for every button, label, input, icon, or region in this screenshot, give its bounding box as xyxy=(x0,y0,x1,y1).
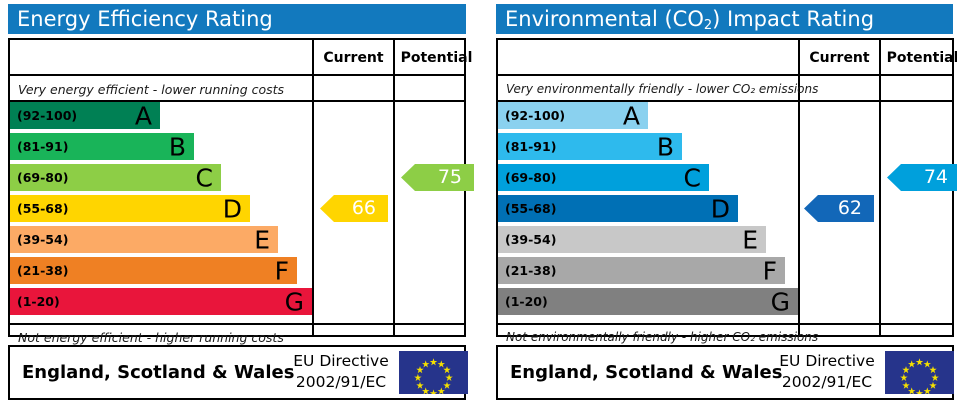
eu-flag-icon xyxy=(399,351,468,394)
band-range: (69-80) xyxy=(505,164,556,191)
energy-footer-region: England, Scotland & Wales xyxy=(22,347,294,398)
band-range: (81-91) xyxy=(505,133,556,160)
band-range: (39-54) xyxy=(505,226,556,253)
band-row: (1-20) G xyxy=(10,288,312,315)
co2-chart-title-subscript: 2 xyxy=(704,18,712,33)
energy-potential-header: Potential xyxy=(395,40,478,76)
co2-impact-chart: Environmental (CO2) Impact Rating Curren… xyxy=(488,0,957,404)
band-row: (1-20) G xyxy=(498,288,798,315)
energy-current-arrow: 66 xyxy=(320,195,388,222)
co2-footer-region: England, Scotland & Wales xyxy=(510,347,782,398)
band-row: (55-68) D xyxy=(498,195,738,222)
band-row: (81-91) B xyxy=(10,133,194,160)
co2-caption-top: Very environmentally friendly - lower CO… xyxy=(506,82,818,96)
band-range: (92-100) xyxy=(17,102,77,129)
band-range: (1-20) xyxy=(17,288,60,315)
band-letter: E xyxy=(254,227,270,252)
band-row: (92-100) A xyxy=(498,102,648,129)
band-range: (1-20) xyxy=(505,288,548,315)
eu-flag-icon xyxy=(885,351,954,394)
energy-footer: England, Scotland & Wales EU Directive 2… xyxy=(8,345,466,400)
co2-chart-title-suffix: ) Impact Rating xyxy=(712,7,874,31)
co2-column-divider-2 xyxy=(879,40,881,335)
co2-footer-directive: EU Directive 2002/91/EC xyxy=(772,351,882,393)
co2-chart-title: Environmental (CO2) Impact Rating xyxy=(496,4,953,34)
band-letter: B xyxy=(657,134,674,159)
band-letter: E xyxy=(742,227,758,252)
energy-chart-title: Energy Efficiency Rating xyxy=(8,4,466,34)
band-range: (55-68) xyxy=(17,195,68,222)
energy-directive-line-2: 2002/91/EC xyxy=(286,372,396,393)
band-range: (39-54) xyxy=(17,226,68,253)
energy-band-list: (92-100) A (81-91) B (69-80) C (55-68) D… xyxy=(10,102,312,323)
energy-caption-bottom: Not energy efficient - higher running co… xyxy=(18,330,284,345)
co2-band-list: (92-100) A (81-91) B (69-80) C (55-68) D… xyxy=(498,102,798,323)
band-range: (81-91) xyxy=(17,133,68,160)
band-row: (81-91) B xyxy=(498,133,682,160)
band-letter: G xyxy=(285,289,304,314)
band-letter: D xyxy=(711,196,730,221)
co2-directive-line-2: 2002/91/EC xyxy=(772,372,882,393)
energy-current-header: Current xyxy=(314,40,393,76)
co2-current-arrow: 62 xyxy=(804,195,874,222)
band-letter: A xyxy=(623,103,640,128)
energy-chart-frame: Current Potential Very energy efficient … xyxy=(8,38,466,337)
band-range: (55-68) xyxy=(505,195,556,222)
co2-directive-line-1: EU Directive xyxy=(772,351,882,372)
energy-column-divider-2 xyxy=(393,40,395,335)
co2-potential-arrow: 74 xyxy=(887,164,957,191)
co2-current-value: 62 xyxy=(838,197,862,219)
energy-caption-top: Very energy efficient - lower running co… xyxy=(18,82,284,97)
co2-current-header: Current xyxy=(800,40,879,76)
band-range: (69-80) xyxy=(17,164,68,191)
co2-chart-title-prefix: Environmental (CO xyxy=(505,7,704,31)
band-row: (92-100) A xyxy=(10,102,160,129)
band-letter: B xyxy=(169,134,186,159)
band-row: (69-80) C xyxy=(498,164,709,191)
epc-charts-container: Energy Efficiency Rating Current Potenti… xyxy=(0,0,957,404)
co2-chart-frame: Current Potential Very environmentally f… xyxy=(496,38,954,337)
co2-potential-value: 74 xyxy=(924,166,948,188)
energy-directive-line-1: EU Directive xyxy=(286,351,396,372)
band-row: (21-38) F xyxy=(498,257,785,284)
band-row: (21-38) F xyxy=(10,257,297,284)
band-letter: C xyxy=(196,165,213,190)
energy-potential-value: 75 xyxy=(438,166,462,188)
co2-divider-lower xyxy=(498,323,952,325)
energy-column-divider-1 xyxy=(312,40,314,335)
band-row: (39-54) E xyxy=(10,226,278,253)
band-range: (21-38) xyxy=(17,257,68,284)
energy-divider-lower xyxy=(10,323,464,325)
band-range: (92-100) xyxy=(505,102,565,129)
energy-footer-directive: EU Directive 2002/91/EC xyxy=(286,351,396,393)
band-letter: G xyxy=(771,289,790,314)
energy-potential-arrow: 75 xyxy=(401,164,474,191)
band-row: (69-80) C xyxy=(10,164,221,191)
co2-caption-bottom: Not environmentally friendly - higher CO… xyxy=(506,330,818,344)
band-letter: F xyxy=(763,258,777,283)
band-row: (39-54) E xyxy=(498,226,766,253)
energy-current-value: 66 xyxy=(352,197,376,219)
co2-footer: England, Scotland & Wales EU Directive 2… xyxy=(496,345,954,400)
energy-efficiency-chart: Energy Efficiency Rating Current Potenti… xyxy=(0,0,470,404)
co2-potential-header: Potential xyxy=(881,40,957,76)
band-range: (21-38) xyxy=(505,257,556,284)
band-row: (55-68) D xyxy=(10,195,250,222)
band-letter: D xyxy=(223,196,242,221)
band-letter: A xyxy=(135,103,152,128)
band-letter: C xyxy=(684,165,701,190)
energy-chart-title-text: Energy Efficiency Rating xyxy=(17,7,273,31)
band-letter: F xyxy=(275,258,289,283)
